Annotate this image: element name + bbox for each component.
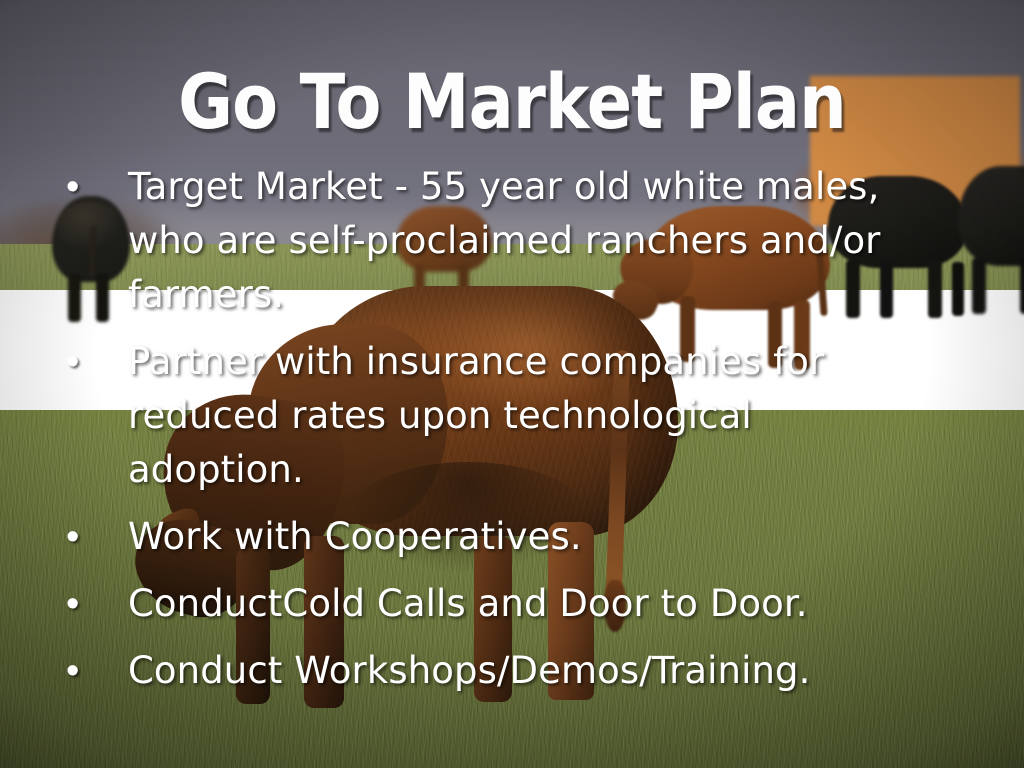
bullet-list: • Target Market - 55 year old white male… [56, 160, 956, 711]
bullet-marker-icon: • [56, 577, 128, 631]
bullet-marker-icon: • [56, 335, 128, 389]
list-item: • ConductCold Calls and Door to Door. [56, 577, 956, 631]
bullet-text: Target Market - 55 year old white males,… [128, 160, 928, 322]
bullet-marker-icon: • [56, 510, 128, 564]
bullet-marker-icon: • [56, 160, 128, 214]
bullet-text: Partner with insurance companies for red… [128, 335, 928, 497]
list-item: • Conduct Workshops/Demos/Training. [56, 644, 956, 698]
list-item: • Work with Cooperatives. [56, 510, 956, 564]
list-item: • Partner with insurance companies for r… [56, 335, 956, 497]
bullet-text: Work with Cooperatives. [128, 510, 928, 564]
bullet-text: Conduct Workshops/Demos/Training. [128, 644, 928, 698]
slide-content: Go To Market Plan • Target Market - 55 y… [0, 0, 1024, 768]
presentation-slide: Go To Market Plan • Target Market - 55 y… [0, 0, 1024, 768]
slide-title: Go To Market Plan [61, 64, 962, 140]
bullet-marker-icon: • [56, 644, 128, 698]
bullet-text: ConductCold Calls and Door to Door. [128, 577, 928, 631]
list-item: • Target Market - 55 year old white male… [56, 160, 956, 322]
